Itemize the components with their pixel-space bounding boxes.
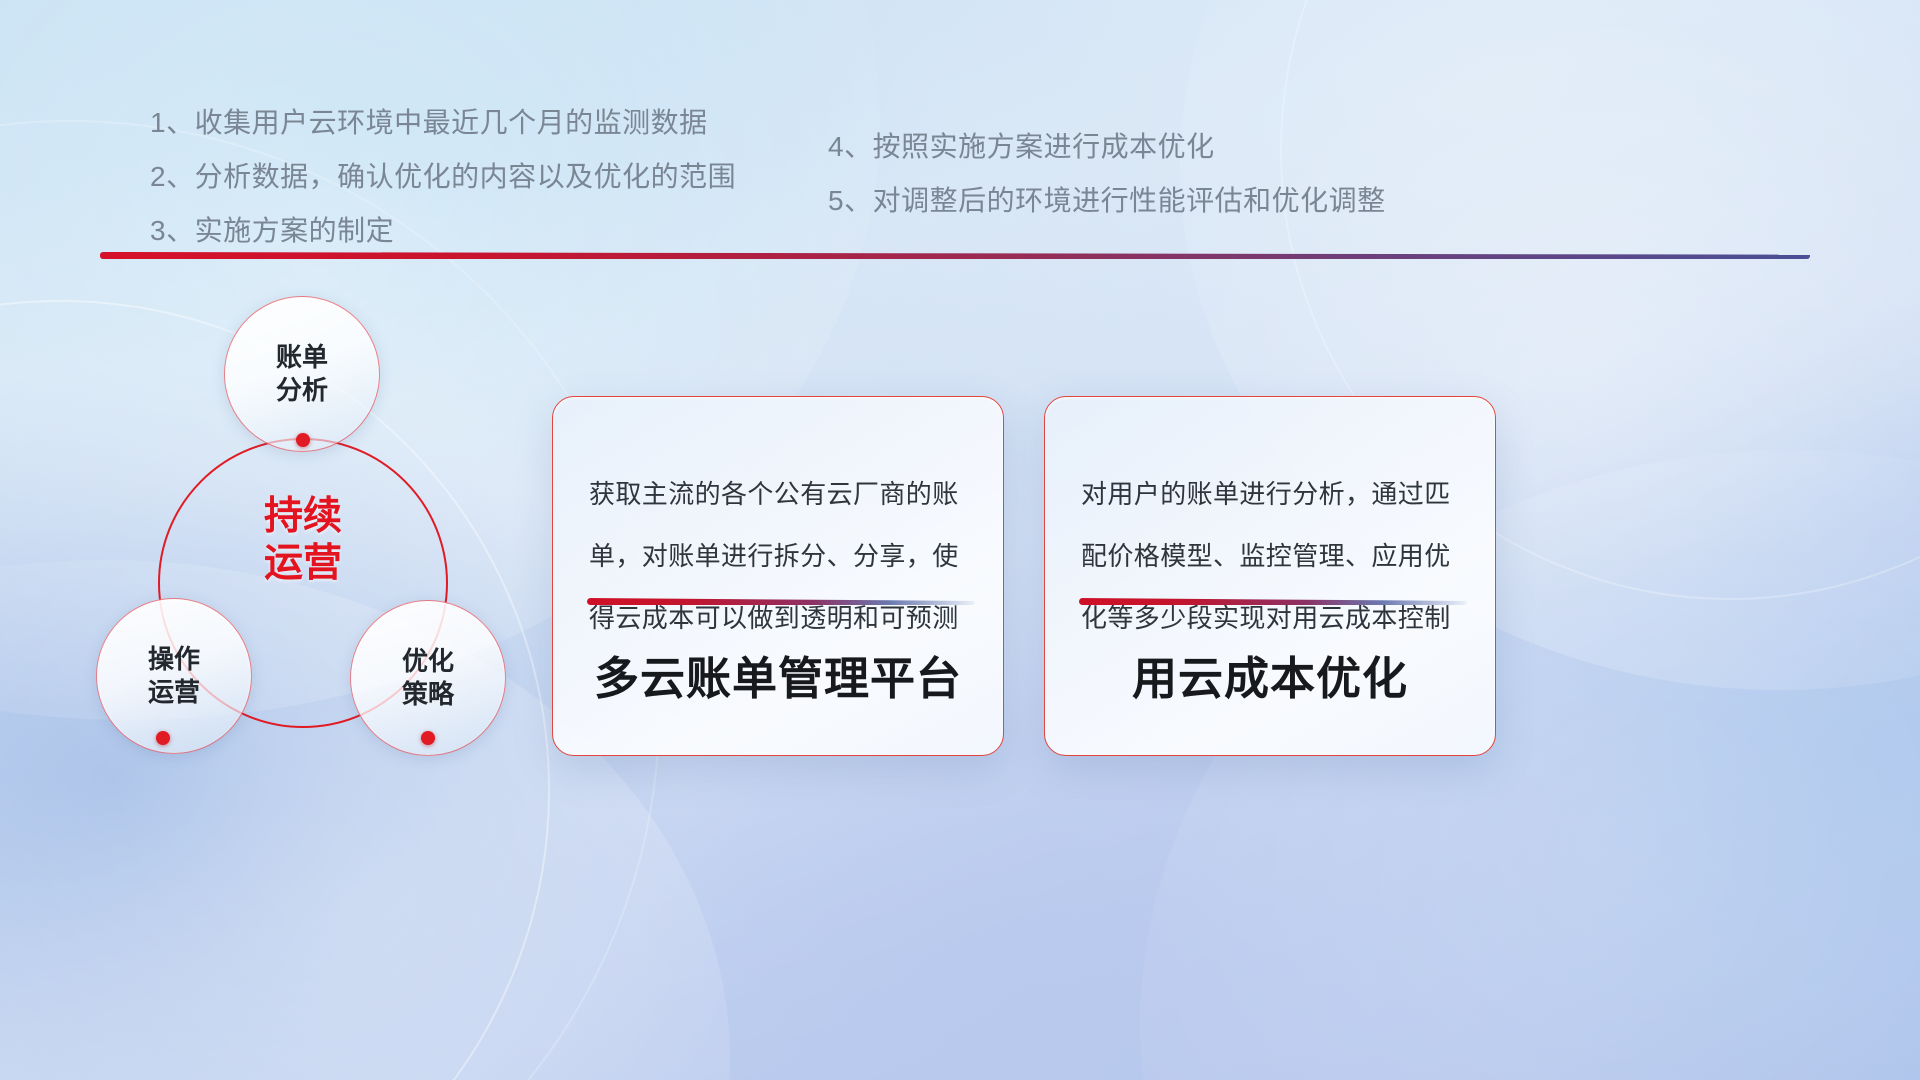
- process-steps-column-left: 1、收集用户云环境中最近几个月的监测数据 2、分析数据，确认优化的内容以及优化的…: [150, 96, 736, 258]
- venn-node-top-dot: [296, 433, 310, 447]
- venn-bubble-optimization-strategy-line2: 策略: [402, 678, 454, 711]
- venn-center-label-line2: 运营: [158, 540, 448, 587]
- section-divider: [100, 252, 1810, 259]
- venn-bubble-operation-line2: 运营: [148, 676, 200, 709]
- process-step-1: 1、收集用户云环境中最近几个月的监测数据: [150, 96, 736, 150]
- section-divider-bar: [100, 252, 1810, 259]
- card-multi-cloud-bill-platform-title: 多云账单管理平台: [553, 642, 1003, 707]
- card-cloud-cost-optimization-body: 对用户的账单进行分析，通过匹配价格模型、监控管理、应用优化等多少段实现对用云成本…: [1045, 397, 1495, 649]
- venn-bubble-operation-line1: 操作: [148, 643, 200, 676]
- card-multi-cloud-bill-platform-body: 获取主流的各个公有云厂商的账单，对账单进行拆分、分享，使得云成本可以做到透明和可…: [553, 397, 1003, 649]
- venn-bubble-bill-analysis-line2: 分析: [276, 374, 328, 407]
- card-multi-cloud-bill-platform[interactable]: 获取主流的各个公有云厂商的账单，对账单进行拆分、分享，使得云成本可以做到透明和可…: [552, 396, 1004, 756]
- card-cloud-cost-optimization-title: 用云成本优化: [1045, 642, 1495, 707]
- venn-bubble-bill-analysis[interactable]: 账单 分析: [224, 296, 380, 452]
- process-steps-column-right: 4、按照实施方案进行成本优化 5、对调整后的环境进行性能评估和优化调整: [828, 120, 1386, 228]
- process-step-5: 5、对调整后的环境进行性能评估和优化调整: [828, 174, 1386, 228]
- continuous-operation-venn-diagram: 持续 运营 账单 分析 操作 运营 优化 策略: [78, 288, 548, 778]
- venn-bubble-operation[interactable]: 操作 运营: [96, 598, 252, 754]
- venn-center-label-line1: 持续: [158, 493, 448, 540]
- venn-bubble-optimization-strategy-line1: 优化: [402, 645, 454, 678]
- card-cloud-cost-optimization[interactable]: 对用户的账单进行分析，通过匹配价格模型、监控管理、应用优化等多少段实现对用云成本…: [1044, 396, 1496, 756]
- process-step-2: 2、分析数据，确认优化的内容以及优化的范围: [150, 150, 736, 204]
- venn-bubble-bill-analysis-line1: 账单: [276, 341, 328, 374]
- venn-node-right-dot: [421, 731, 435, 745]
- venn-center-label: 持续 运营: [158, 493, 448, 587]
- venn-node-left-dot: [156, 731, 170, 745]
- process-step-3: 3、实施方案的制定: [150, 204, 736, 258]
- process-step-4: 4、按照实施方案进行成本优化: [828, 120, 1386, 174]
